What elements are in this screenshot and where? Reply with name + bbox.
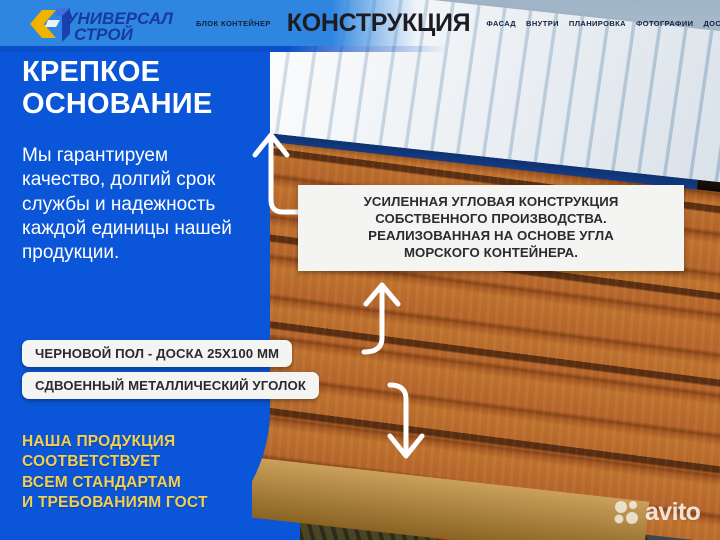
avito-wordmark: avito [645, 498, 700, 527]
standards-line-3: ВСЕМ СТАНДАРТАМ [22, 473, 208, 493]
nav-item-planirovka[interactable]: ПЛАНИРОВКА [569, 19, 626, 28]
avito-watermark: avito [614, 498, 700, 527]
logo-text-line2: СТРОЙ [74, 24, 134, 44]
hero-headline: КРЕПКОЕ ОСНОВАНИЕ [22, 56, 272, 121]
headline-line-1: КРЕПКОЕ [22, 56, 272, 88]
nav-item-fotografii[interactable]: ФОТОГРАФИИ [636, 19, 693, 28]
callout-line-2: СОБСТВЕННОГО ПРОИЗВОДСТВА. [312, 211, 670, 228]
brand-logo[interactable]: УНИВЕРСАЛ СТРОЙ [26, 4, 186, 44]
header-tagline: БЛОК КОНТЕЙНЕР [196, 19, 271, 28]
logo-mark-icon [30, 8, 70, 42]
header-accent-strip [0, 46, 720, 52]
page-title: КОНСТРУКЦИЯ [287, 9, 471, 38]
callout-box: УСИЛЕННАЯ УГЛОВАЯ КОНСТРУКЦИЯ СОБСТВЕННО… [298, 185, 684, 271]
callout-line-3: РЕАЛИЗОВАННАЯ НА ОСНОВЕ УГЛА [312, 228, 670, 245]
standards-line-1: НАША ПРОДУКЦИЯ [22, 432, 208, 452]
nav-item-fasad[interactable]: ФАСАД [486, 19, 516, 28]
nav-item-vnutri[interactable]: ВНУТРИ [526, 19, 559, 28]
headline-line-2: ОСНОВАНИЕ [22, 88, 272, 120]
top-navigation: БЛОК КОНТЕЙНЕР КОНСТРУКЦИЯ ФАСАД ВНУТРИ … [196, 0, 720, 46]
standards-statement: НАША ПРОДУКЦИЯ СООТВЕТСТВУЕТ ВСЕМ СТАНДА… [22, 432, 208, 514]
feature-label-subfloor: ЧЕРНОВОЙ ПОЛ - ДОСКА 25Х100 ММ [22, 340, 292, 367]
standards-line-2: СООТВЕТСТВУЕТ [22, 452, 208, 472]
standards-line-4: И ТРЕБОВАНИЯМ ГОСТ [22, 493, 208, 513]
feature-label-angle-bracket: СДВОЕННЫЙ МЕТАЛЛИЧЕСКИЙ УГОЛОК [22, 372, 319, 399]
avito-dots-icon [614, 500, 640, 526]
callout-line-4: МОРСКОГО КОНТЕЙНЕРА. [312, 245, 670, 262]
nav-item-dostavka[interactable]: ДОСТАВКА [703, 19, 720, 28]
hero-body-text: Мы гарантируем качество, долгий срок слу… [22, 144, 240, 266]
callout-line-1: УСИЛЕННАЯ УГЛОВАЯ КОНСТРУКЦИЯ [312, 194, 670, 211]
marketing-banner: УНИВЕРСАЛ СТРОЙ БЛОК КОНТЕЙНЕР КОНСТРУКЦ… [0, 0, 720, 540]
